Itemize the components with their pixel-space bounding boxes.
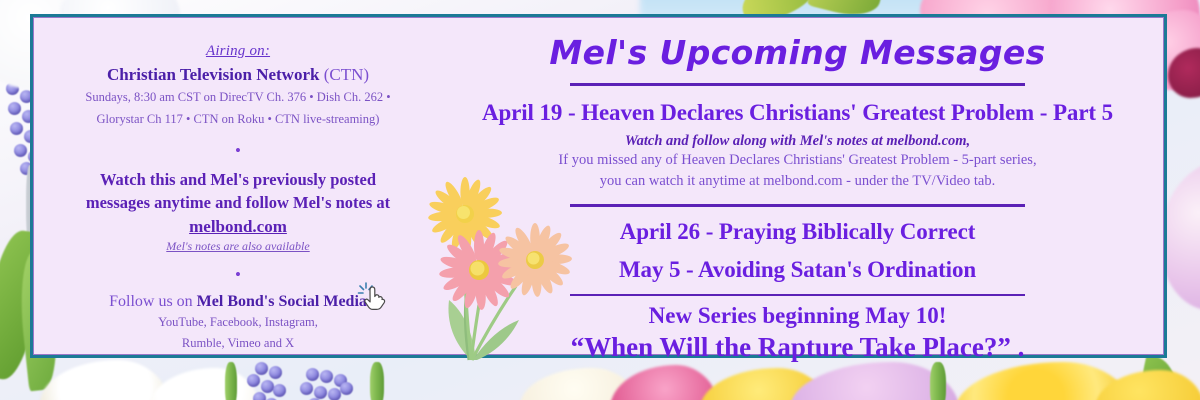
socials-line-2: Rumble, Vimeo and X <box>47 334 429 353</box>
left-column: Airing on: Christian Television Network … <box>33 17 443 355</box>
follow-us-row: Follow us on Mel Bond's Social Media <box>47 293 429 311</box>
white-daffodil-bottom-2 <box>150 368 260 400</box>
white-daffodil-bottom-1 <box>40 360 170 400</box>
clicking-hand-cursor-icon <box>357 281 391 313</box>
watch-line-2: messages anytime and follow Mel's notes … <box>47 192 429 215</box>
network-name: Christian Television Network <box>107 65 320 84</box>
socials-line-1: YouTube, Facebook, Instagram, <box>47 313 429 332</box>
message-1-heading: April 19 - Heaven Declares Christians' G… <box>453 100 1142 126</box>
hyacinth-bottom-1 <box>245 362 293 400</box>
notes-available-label: Mel's notes are also available <box>47 239 429 254</box>
divider-3 <box>570 294 1025 297</box>
follow-us-line: Follow us on Mel Bond's Social Media <box>109 293 367 311</box>
stem-bottom-2 <box>370 362 384 400</box>
stem-bottom-3 <box>930 362 946 400</box>
three-daisies-illustration <box>425 172 590 362</box>
message-1-subbold: Watch and follow along with Mel's notes … <box>453 133 1142 150</box>
stem-bottom-1 <box>225 362 237 400</box>
watch-line-1: Watch this and Mel's previously posted <box>47 169 429 192</box>
hyacinth-bottom-2 <box>300 368 360 400</box>
channels-line-2: Glorystar Ch 117 • CTN on Roku • CTN liv… <box>47 110 429 129</box>
divider-1 <box>570 83 1025 86</box>
melbond-link-left[interactable]: melbond.com <box>189 217 287 237</box>
divider-2 <box>570 204 1025 207</box>
network-abbrev: (CTN) <box>319 65 369 84</box>
message-1-subline-1: If you missed any of Heaven Declares Chr… <box>453 150 1142 172</box>
follow-prefix: Follow us on <box>109 293 197 310</box>
airing-on-label: Airing on: <box>47 43 429 60</box>
social-media-label: Mel Bond's Social Media <box>197 293 367 310</box>
network-line: Christian Television Network (CTN) <box>47 65 429 85</box>
page-title: Mel's Upcoming Messages <box>453 33 1142 72</box>
yellow-tulip-bottom-right <box>1095 370 1200 400</box>
channels-line-1: Sundays, 8:30 am CST on DirecTV Ch. 376 … <box>47 88 429 107</box>
content-panel: Airing on: Christian Television Network … <box>30 14 1167 358</box>
bullet-separator-1: • <box>47 142 429 159</box>
